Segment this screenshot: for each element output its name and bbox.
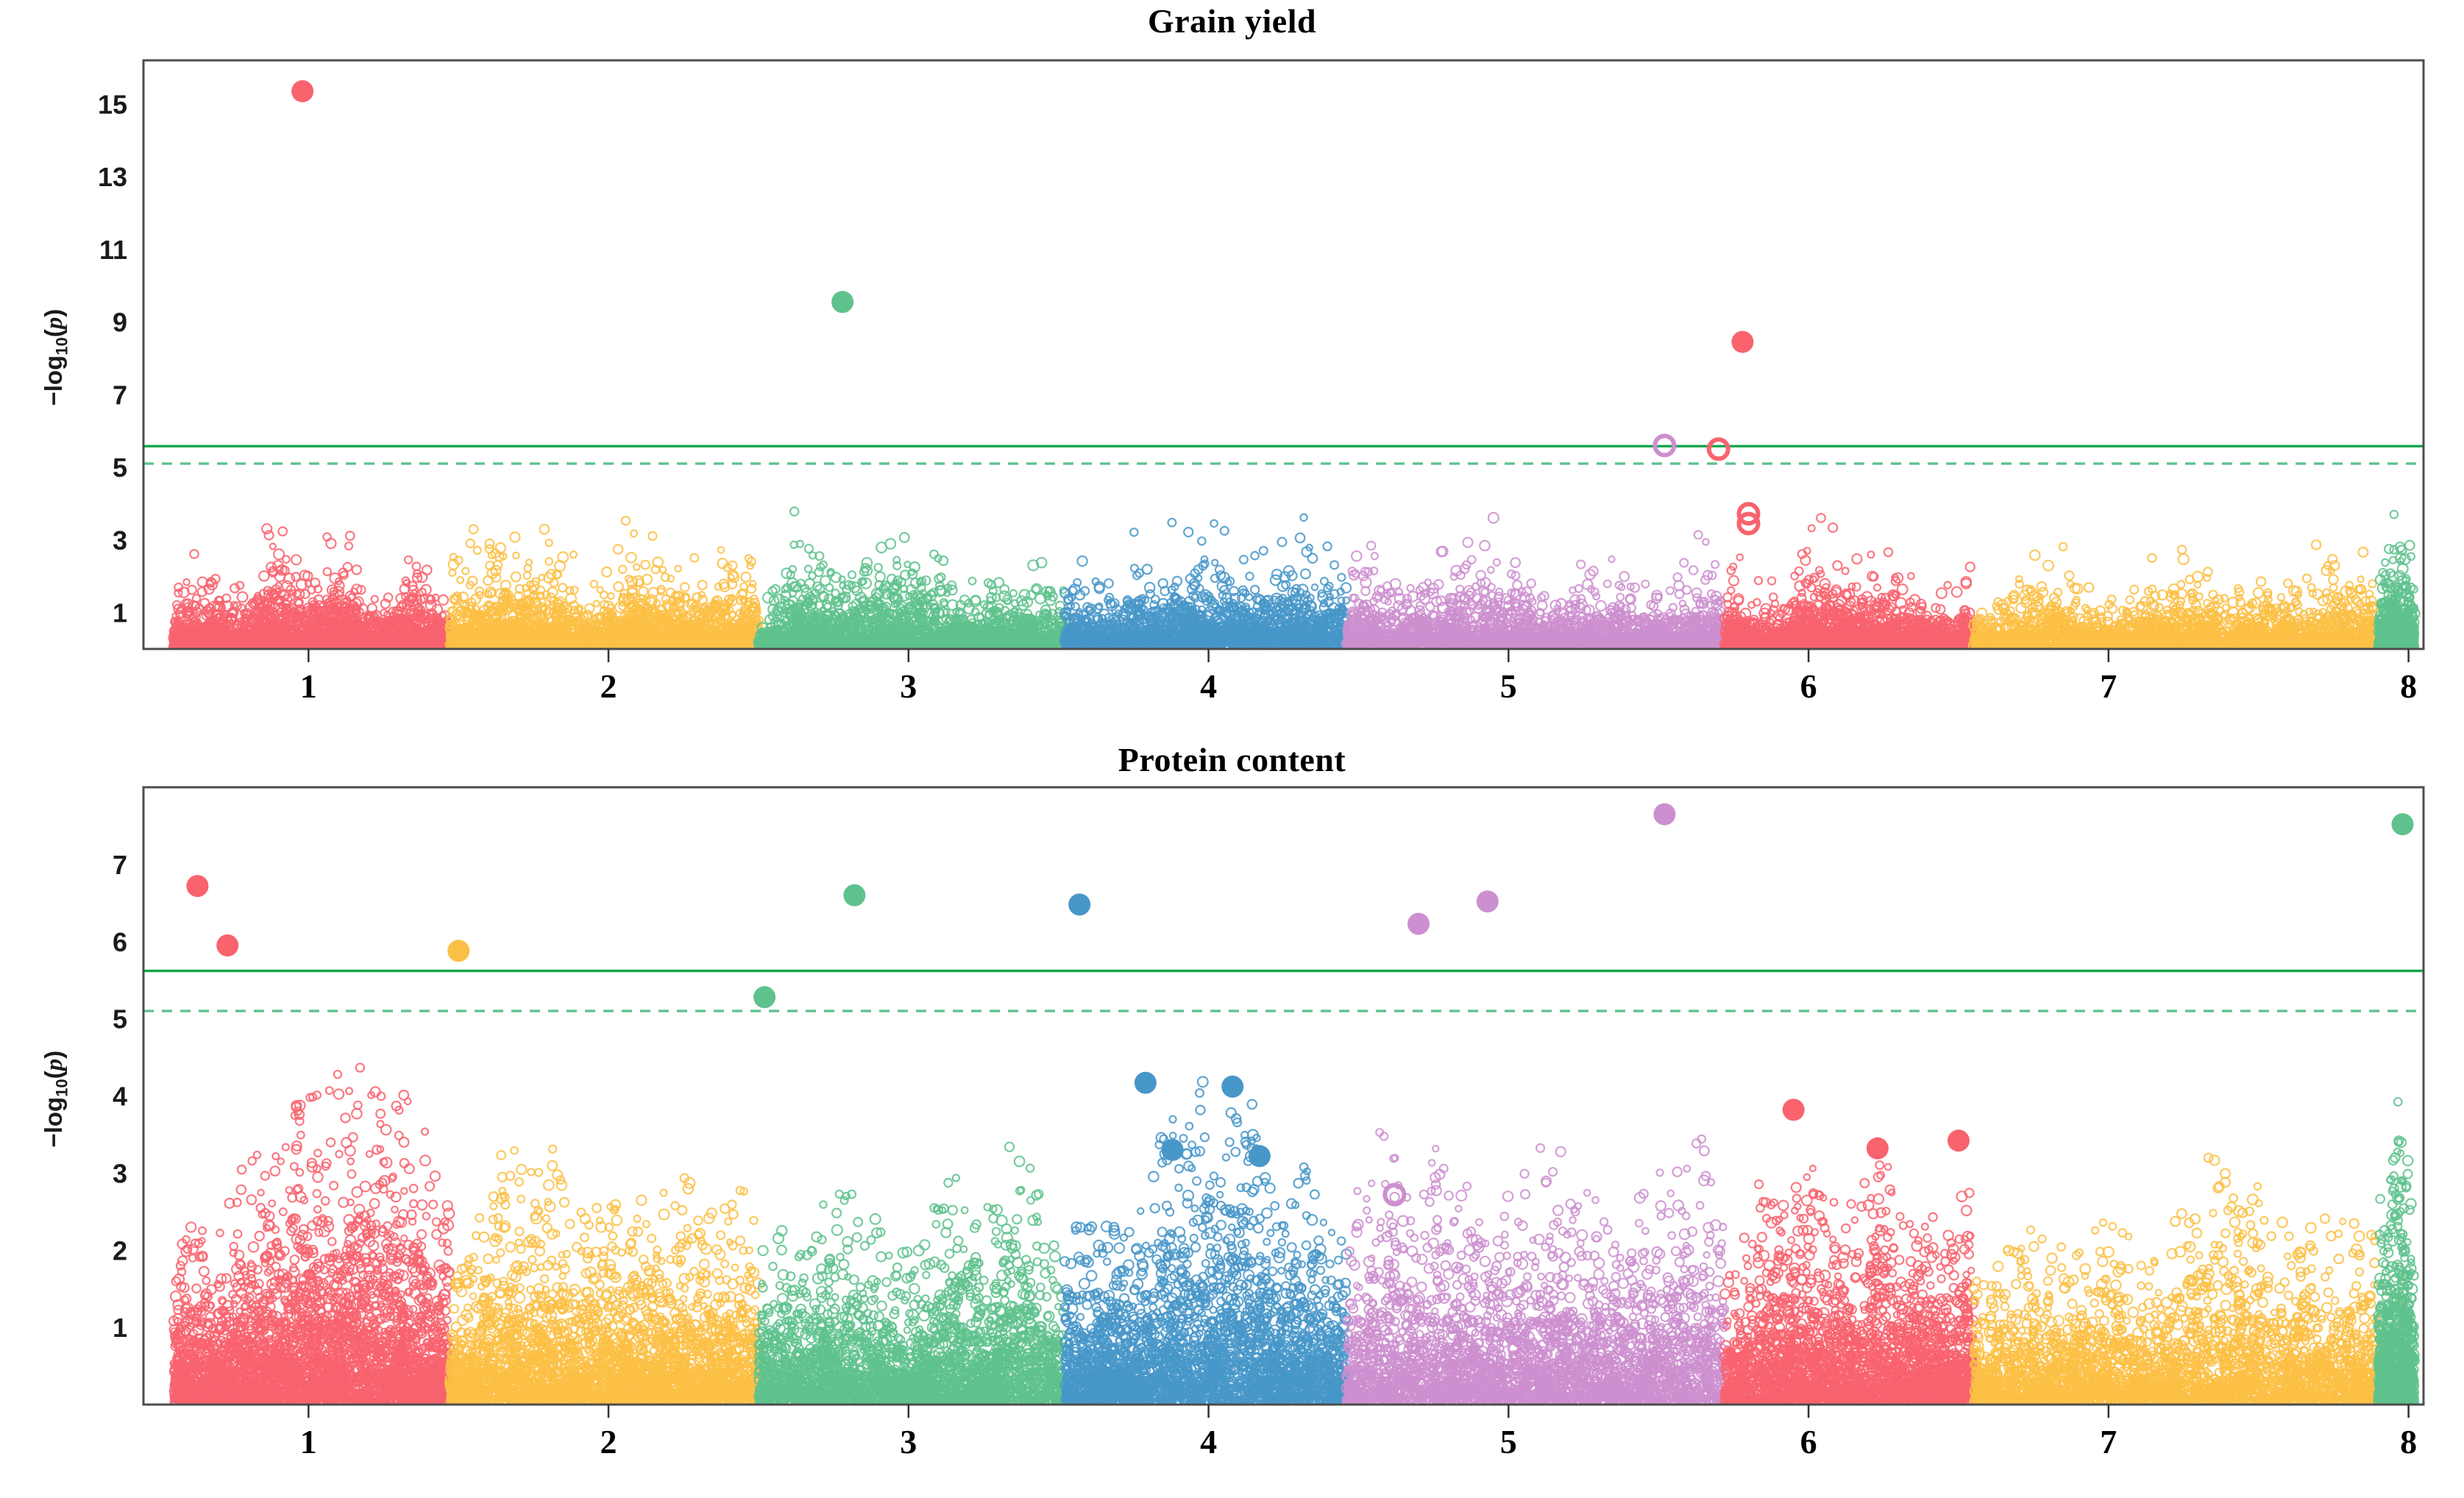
y-axis-label-grain-yield: −log10(p) xyxy=(40,309,72,406)
snp-marker xyxy=(1653,803,1675,826)
y-axis-label-protein-content: −log10(p) xyxy=(40,1050,72,1147)
x-tick-label: 8 xyxy=(2400,1423,2417,1460)
y-tick-label: 1 xyxy=(113,598,127,628)
page-title-grain-yield: Grain yield xyxy=(0,0,2464,38)
x-tick-label: 4 xyxy=(1200,1423,1217,1460)
x-tick-label: 5 xyxy=(1500,1423,1517,1460)
x-tick-label: 3 xyxy=(900,1423,917,1460)
x-tick-label: 4 xyxy=(1200,667,1217,705)
snp-marker xyxy=(1221,1076,1243,1098)
snp-marker xyxy=(186,875,208,897)
snp-marker xyxy=(1477,890,1499,912)
panel-protein-content: Protein content −log10(p) 12345671234567… xyxy=(0,736,2464,1498)
snp-marker xyxy=(447,940,469,962)
snp-marker xyxy=(1135,1072,1157,1094)
x-tick-label: 7 xyxy=(2100,667,2117,705)
plot-area-protein-content: −log10(p) 123456712345678 xyxy=(0,774,2464,1491)
snp-marker xyxy=(1249,1145,1271,1167)
y-tick-label: 5 xyxy=(113,452,127,483)
plot-frame xyxy=(143,60,2424,649)
x-axis-ticks: 12345678 xyxy=(300,649,2417,705)
y-tick-label: 7 xyxy=(113,850,127,880)
x-tick-label: 2 xyxy=(600,1423,617,1460)
y-tick-label: 1 xyxy=(113,1313,127,1343)
x-tick-label: 1 xyxy=(300,667,317,705)
y-axis-ticks: 1234567 xyxy=(113,850,127,1343)
snp-marker xyxy=(216,934,238,956)
x-tick-label: 5 xyxy=(1500,667,1517,705)
snp-marker xyxy=(1407,913,1430,935)
snp-marker xyxy=(1731,331,1753,353)
y-tick-label: 2 xyxy=(113,1235,127,1266)
snp-marker xyxy=(831,291,853,313)
y-axis-ticks: 13579111315 xyxy=(98,89,127,628)
manhattan-plot-grain-yield: 1357911131512345678 xyxy=(0,38,2464,730)
x-tick-label: 6 xyxy=(1800,667,1817,705)
manhattan-figure: Grain yield −log10(p) 135791113151234567… xyxy=(0,0,2464,1498)
y-tick-label: 9 xyxy=(113,308,127,338)
snp-marker xyxy=(843,884,865,906)
x-tick-label: 2 xyxy=(600,667,617,705)
snp-marker xyxy=(1867,1137,1889,1160)
x-tick-label: 6 xyxy=(1800,1423,1817,1460)
manhattan-plot-protein-content: 123456712345678 xyxy=(0,774,2464,1491)
y-tick-label: 11 xyxy=(99,235,127,265)
y-tick-label: 4 xyxy=(113,1082,127,1112)
y-tick-label: 15 xyxy=(98,89,127,119)
y-tick-label: 7 xyxy=(113,380,127,410)
snp-marker xyxy=(1162,1139,1184,1161)
snp-marker xyxy=(2392,813,2414,835)
x-axis-ticks: 12345678 xyxy=(300,1405,2417,1460)
y-tick-label: 13 xyxy=(98,162,127,192)
snp-marker xyxy=(1068,893,1090,915)
y-tick-label: 6 xyxy=(113,927,127,957)
x-tick-label: 1 xyxy=(300,1423,317,1460)
snp-marker xyxy=(1948,1129,1970,1151)
x-tick-label: 3 xyxy=(900,667,917,705)
x-tick-label: 7 xyxy=(2100,1423,2117,1460)
page-title-protein-content: Protein content xyxy=(0,736,2464,774)
snp-marker xyxy=(753,986,775,1008)
y-tick-label: 3 xyxy=(113,1158,127,1188)
snp-marker xyxy=(1783,1098,1805,1121)
panel-grain-yield: Grain yield −log10(p) 135791113151234567… xyxy=(0,0,2464,736)
y-tick-label: 5 xyxy=(113,1004,127,1034)
x-tick-label: 8 xyxy=(2400,667,2417,705)
plot-area-grain-yield: −log10(p) 1357911131512345678 xyxy=(0,38,2464,730)
y-tick-label: 3 xyxy=(113,525,127,555)
snp-marker xyxy=(291,80,313,102)
